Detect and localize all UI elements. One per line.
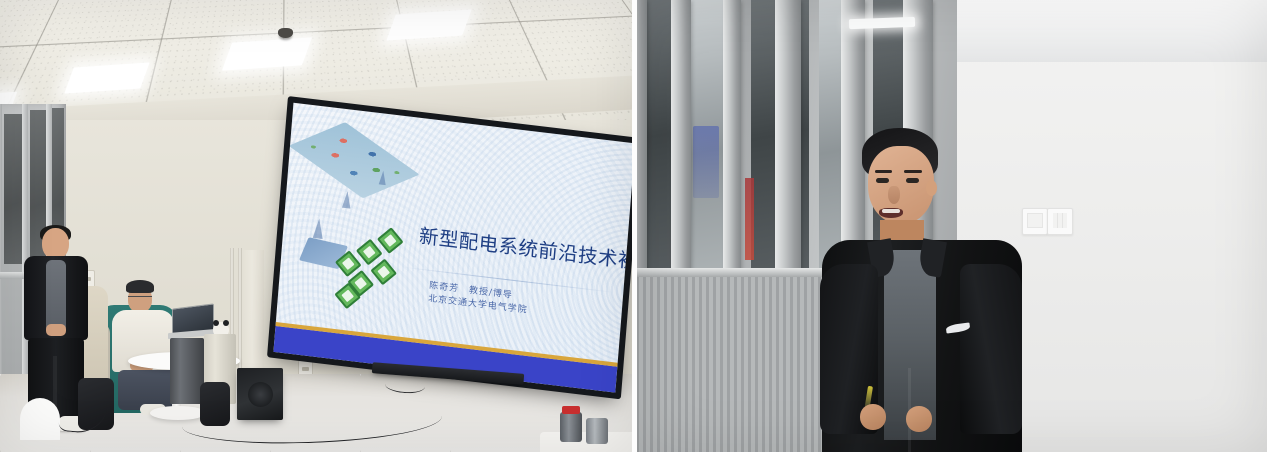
presenter-shirt [46,260,66,330]
presenter-head [42,228,69,259]
presentation-screen[interactable]: 新型配电系统前沿技术初探 陈奇芳 教授/博导 北京交通大学电气学院 [267,96,632,399]
partition-mullion-1 [0,104,2,410]
partition-glass-1 [4,114,22,264]
blue-sign [693,126,719,198]
thermos-flask-1 [560,412,582,442]
speaker-nose [888,186,900,204]
sprinkler-icon [278,28,293,38]
laptop [168,306,212,336]
left-photo: 新型配电系统前沿技术初探 陈奇芳 教授/博导 北京交通大学电气学院 [0,0,632,452]
energy-node-icon-3 [377,227,404,254]
side-table [20,398,60,440]
seated-attendee [112,282,178,414]
speaker-hand-left [860,404,886,430]
slide-presenter-block: 陈奇芳 教授/博导 北京交通大学电气学院 [428,280,529,318]
red-sign [745,178,754,260]
speaker-mouth [879,208,903,218]
energy-node-icon-5 [370,259,397,286]
speaker-figure [822,128,1022,452]
speaker-eye-left [876,178,889,183]
speaker-eye-right [906,178,919,183]
transmission-tower-icon-1 [313,218,325,239]
speaker-ear [926,180,937,196]
presenter-hands [46,324,66,336]
desktop-tower-black [170,338,204,404]
beanie-icon [126,280,154,293]
screenshot-root: 新型配电系统前沿技术初探 陈奇芳 教授/博导 北京交通大学电气学院 [0,0,1267,452]
slide-title: 新型配电系统前沿技术初探 [418,219,632,276]
transmission-tower-icon-3 [379,170,387,185]
speaker-eyebrow-right [904,170,922,173]
light-switch-plate-1[interactable] [1022,208,1048,235]
light-switch-plate-2[interactable] [1047,208,1073,235]
transmission-tower-icon-2 [342,191,352,209]
energy-node-icon-2 [356,239,383,266]
speaker-hand-right [906,406,932,432]
thermos-flask-2 [586,418,608,444]
slide-surface: 新型配电系统前沿技术初探 陈奇芳 教授/博导 北京交通大学电气学院 [273,103,632,393]
slide-artwork [294,121,427,305]
right-photo [637,0,1267,452]
speaker-arm-right [960,264,1022,434]
glasses-icon [128,296,152,302]
isometric-city-icon [289,122,420,198]
speaker-eyebrow-left [875,170,892,173]
